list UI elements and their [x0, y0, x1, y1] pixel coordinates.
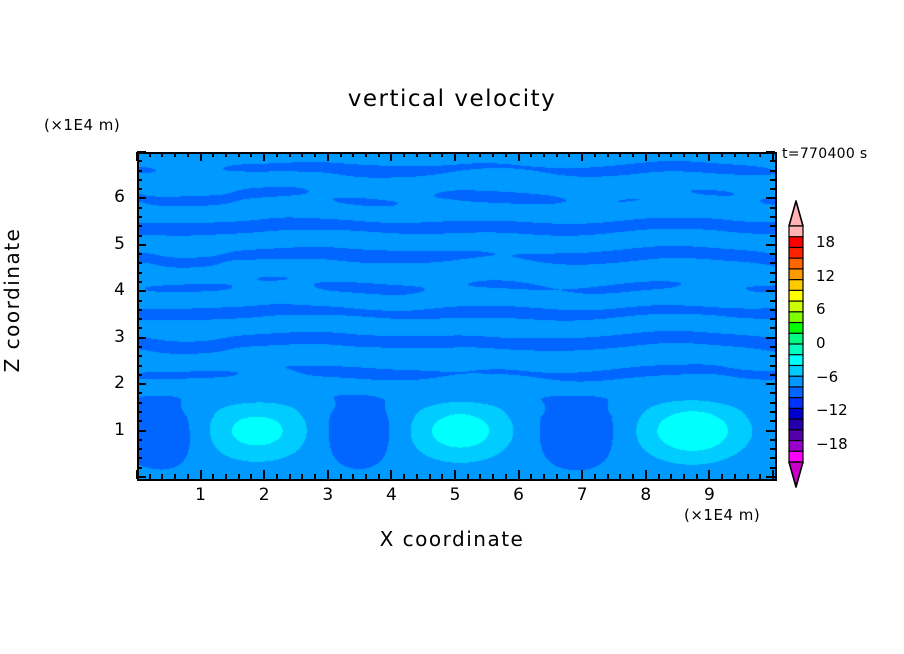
axis-tick [770, 281, 775, 283]
axis-tick [747, 474, 749, 479]
colorbar [784, 200, 808, 488]
axis-tick [289, 152, 291, 157]
axis-tick [137, 300, 142, 302]
colorbar-tick-label: 6 [816, 300, 826, 318]
colorbar-tick-label: −12 [816, 401, 848, 419]
colorbar-band [789, 365, 803, 376]
colorbar-tick-label: −6 [816, 368, 838, 386]
x-axis-title: X coordinate [0, 527, 904, 551]
axis-tick [708, 152, 710, 161]
axis-tick [770, 439, 775, 441]
axis-tick [721, 474, 723, 479]
colorbar-band [789, 398, 803, 409]
axis-tick [467, 474, 469, 479]
colorbar-band [789, 237, 803, 248]
axis-tick [174, 152, 176, 157]
colorbar-band [789, 312, 803, 323]
x-tick-label: 9 [689, 485, 729, 505]
axis-tick [770, 420, 775, 422]
axis-tick [200, 470, 202, 479]
axis-tick [581, 152, 583, 161]
colorbar-band [789, 355, 803, 366]
axis-tick [770, 467, 775, 469]
axis-tick [543, 152, 545, 157]
axis-tick [770, 365, 775, 367]
axis-tick [416, 152, 418, 157]
axis-tick [479, 474, 481, 479]
colorbar-band [789, 344, 803, 355]
axis-tick [327, 152, 329, 161]
axis-tick [137, 374, 142, 376]
x-tick-label: 6 [499, 485, 539, 505]
axis-tick [212, 474, 214, 479]
axis-tick [200, 152, 202, 161]
axis-tick [734, 152, 736, 157]
page-title: vertical velocity [0, 86, 904, 112]
axis-tick [187, 474, 189, 479]
axis-tick [518, 470, 520, 479]
axis-tick [137, 235, 142, 237]
axis-tick [137, 430, 146, 432]
colorbar-swatches [784, 200, 808, 488]
axis-tick [581, 470, 583, 479]
axis-tick [327, 470, 329, 479]
axis-tick [137, 188, 142, 190]
axis-tick [770, 225, 775, 227]
axis-tick [454, 152, 456, 161]
axis-tick [289, 474, 291, 479]
axis-tick [352, 152, 354, 157]
axis-tick [492, 152, 494, 157]
axis-tick [479, 152, 481, 157]
colorbar-band [789, 258, 803, 269]
axis-tick [441, 474, 443, 479]
figure-canvas: vertical velocity (×1E4 m) (×1E4 m) Z co… [0, 0, 904, 654]
y-axis-unit-label: (×1E4 m) [44, 116, 120, 134]
axis-tick [770, 262, 775, 264]
axis-tick [766, 244, 775, 246]
axis-tick [137, 290, 146, 292]
axis-tick [594, 152, 596, 157]
axis-tick [238, 152, 240, 157]
colorbar-band [789, 301, 803, 312]
axis-tick [378, 152, 380, 157]
axis-tick [137, 420, 142, 422]
axis-tick [137, 327, 142, 329]
colorbar-band [789, 226, 803, 237]
axis-tick [137, 272, 142, 274]
y-tick-label: 6 [85, 187, 125, 207]
axis-tick [250, 474, 252, 479]
axis-tick [137, 448, 142, 450]
axis-tick [137, 225, 142, 227]
axis-tick [619, 152, 621, 157]
x-tick-label: 1 [181, 485, 221, 505]
axis-tick [766, 430, 775, 432]
axis-tick [365, 152, 367, 157]
y-tick-label: 5 [85, 234, 125, 254]
axis-tick [770, 160, 775, 162]
axis-tick [568, 474, 570, 479]
axis-tick [770, 207, 775, 209]
axis-tick [770, 402, 775, 404]
axis-tick [770, 346, 775, 348]
axis-tick [518, 152, 520, 161]
colorbar-band [789, 290, 803, 301]
axis-tick [766, 476, 775, 478]
axis-tick [770, 355, 775, 357]
axis-tick [238, 474, 240, 479]
colorbar-band [789, 441, 803, 452]
axis-tick [149, 152, 151, 157]
axis-tick [670, 152, 672, 157]
axis-tick [137, 244, 146, 246]
colorbar-band [789, 430, 803, 441]
axis-tick [137, 318, 142, 320]
colorbar-max-extend [789, 201, 803, 226]
y-tick-label: 3 [85, 327, 125, 347]
axis-tick [607, 474, 609, 479]
axis-tick [619, 474, 621, 479]
x-tick-label: 8 [626, 485, 666, 505]
axis-tick [137, 411, 142, 413]
axis-tick [766, 151, 775, 153]
axis-tick [543, 474, 545, 479]
axis-tick [149, 474, 151, 479]
axis-tick [314, 474, 316, 479]
axis-tick [137, 439, 142, 441]
y-axis-title: Z coordinate [0, 200, 24, 400]
axis-tick [352, 474, 354, 479]
axis-tick [696, 474, 698, 479]
axis-tick [770, 235, 775, 237]
axis-tick [137, 207, 142, 209]
axis-tick [137, 197, 146, 199]
axis-tick [770, 392, 775, 394]
axis-tick [276, 474, 278, 479]
axis-tick [137, 355, 142, 357]
axis-tick [632, 474, 634, 479]
axis-tick [658, 152, 660, 157]
y-tick-label: 2 [85, 373, 125, 393]
colorbar-tick-label: −18 [816, 435, 848, 453]
axis-tick [766, 337, 775, 339]
axis-tick [770, 318, 775, 320]
axis-tick [225, 152, 227, 157]
axis-tick [766, 197, 775, 199]
axis-tick [770, 253, 775, 255]
colorbar-band [789, 269, 803, 280]
colorbar-band [789, 376, 803, 387]
axis-tick [747, 152, 749, 157]
axis-tick [708, 470, 710, 479]
axis-tick [530, 152, 532, 157]
axis-tick [770, 300, 775, 302]
axis-tick [766, 383, 775, 385]
axis-tick [137, 170, 142, 172]
axis-tick [645, 152, 647, 161]
axis-tick [365, 474, 367, 479]
axis-tick [301, 474, 303, 479]
axis-tick [556, 152, 558, 157]
x-tick-label: 4 [371, 485, 411, 505]
colorbar-band [789, 408, 803, 419]
axis-tick [161, 474, 163, 479]
axis-tick [721, 152, 723, 157]
axis-tick [770, 411, 775, 413]
axis-tick [429, 152, 431, 157]
contour-field-canvas [139, 154, 775, 479]
axis-tick [670, 474, 672, 479]
axis-tick [137, 309, 142, 311]
axis-tick [403, 152, 405, 157]
axis-tick [770, 179, 775, 181]
axis-tick [594, 474, 596, 479]
axis-tick [416, 474, 418, 479]
axis-tick [225, 474, 227, 479]
colorbar-tick-label: 12 [816, 267, 835, 285]
axis-tick [137, 281, 142, 283]
axis-tick [770, 457, 775, 459]
axis-tick [137, 151, 146, 153]
x-tick-label: 2 [244, 485, 284, 505]
axis-tick [174, 474, 176, 479]
colorbar-band [789, 451, 803, 462]
axis-tick [683, 152, 685, 157]
axis-tick [137, 365, 142, 367]
colorbar-tick-label: 18 [816, 233, 835, 251]
x-tick-label: 5 [435, 485, 475, 505]
axis-tick [137, 476, 146, 478]
axis-tick [137, 457, 142, 459]
x-axis-unit-label: (×1E4 m) [684, 506, 760, 524]
axis-tick [454, 470, 456, 479]
axis-tick [607, 152, 609, 157]
axis-tick [137, 160, 142, 162]
colorbar-band [789, 333, 803, 344]
axis-tick [161, 152, 163, 157]
colorbar-tick-label: 0 [816, 334, 826, 352]
axis-tick [276, 152, 278, 157]
axis-tick [263, 470, 265, 479]
axis-tick [759, 152, 761, 157]
axis-tick [759, 474, 761, 479]
axis-tick [137, 346, 142, 348]
colorbar-band [789, 280, 803, 291]
axis-tick [505, 152, 507, 157]
axis-tick [314, 152, 316, 157]
axis-tick [770, 327, 775, 329]
axis-tick [378, 474, 380, 479]
y-tick-label: 1 [85, 420, 125, 440]
axis-tick [263, 152, 265, 161]
axis-tick [683, 474, 685, 479]
colorbar-min-extend [789, 462, 803, 487]
axis-tick [658, 474, 660, 479]
axis-tick [770, 272, 775, 274]
axis-tick [137, 383, 146, 385]
axis-tick [301, 152, 303, 157]
axis-tick [137, 253, 142, 255]
axis-tick [212, 152, 214, 157]
colorbar-band [789, 247, 803, 258]
axis-tick [632, 152, 634, 157]
x-tick-label: 3 [308, 485, 348, 505]
axis-tick [770, 374, 775, 376]
axis-tick [556, 474, 558, 479]
axis-tick [770, 216, 775, 218]
colorbar-band [789, 387, 803, 398]
axis-tick [696, 152, 698, 157]
axis-tick [441, 152, 443, 157]
axis-tick [645, 470, 647, 479]
axis-tick [770, 188, 775, 190]
axis-tick [137, 467, 142, 469]
axis-tick [530, 474, 532, 479]
axis-tick [568, 152, 570, 157]
axis-tick [137, 392, 142, 394]
axis-tick [137, 216, 142, 218]
axis-tick [340, 474, 342, 479]
contour-plot-area [137, 152, 777, 481]
axis-tick [340, 152, 342, 157]
axis-tick [467, 152, 469, 157]
axis-tick [137, 337, 146, 339]
axis-tick [734, 474, 736, 479]
axis-tick [390, 470, 392, 479]
timestamp-annotation: t=770400 s [782, 146, 867, 162]
axis-tick [505, 474, 507, 479]
axis-tick [770, 170, 775, 172]
axis-tick [250, 152, 252, 157]
y-tick-label: 4 [85, 280, 125, 300]
colorbar-band [789, 419, 803, 430]
x-tick-label: 7 [562, 485, 602, 505]
colorbar-band [789, 323, 803, 334]
axis-tick [429, 474, 431, 479]
axis-tick [766, 290, 775, 292]
axis-tick [137, 262, 142, 264]
axis-tick [137, 179, 142, 181]
axis-tick [770, 309, 775, 311]
axis-tick [390, 152, 392, 161]
axis-tick [403, 474, 405, 479]
axis-tick [770, 448, 775, 450]
axis-tick [137, 402, 142, 404]
axis-tick [187, 152, 189, 157]
axis-tick [492, 474, 494, 479]
